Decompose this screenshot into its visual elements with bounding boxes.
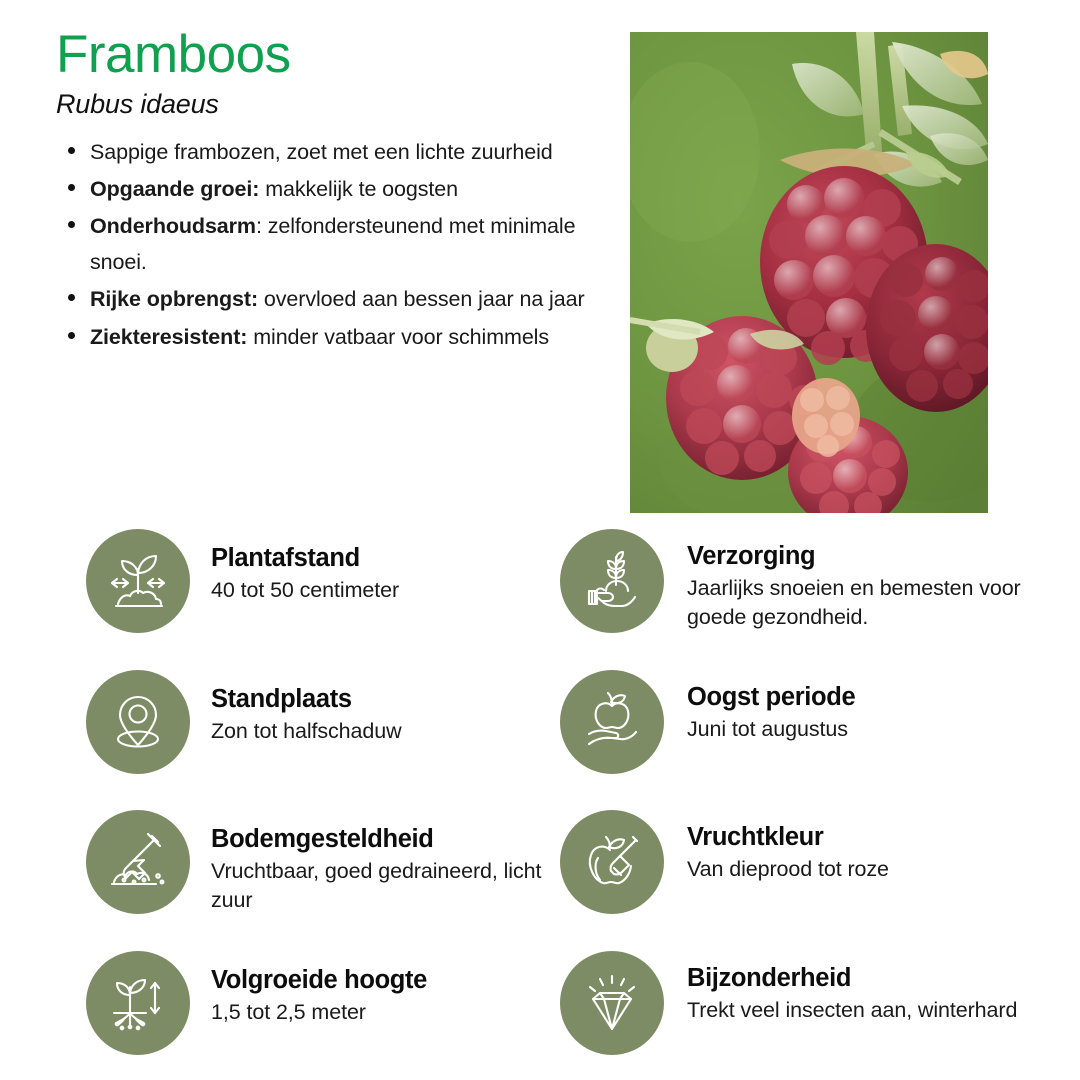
bullet-icon xyxy=(68,221,75,228)
attribute-title: Bijzonderheid xyxy=(687,964,1017,993)
feature-list: Sappige frambozen, zoet met een lichte z… xyxy=(56,134,601,355)
attribute-value: Juni tot augustus xyxy=(687,715,855,743)
diamond-sparkle-icon xyxy=(560,951,664,1055)
attribute-title: Oogst periode xyxy=(687,683,855,712)
plant-height-icon xyxy=(86,951,190,1055)
attribute-title: Volgroeide hoogte xyxy=(211,966,427,995)
attribute-value: 40 tot 50 centimeter xyxy=(211,576,399,604)
attribute-title: Plantafstand xyxy=(211,544,399,573)
feature-label: Rijke opbrengst: xyxy=(90,287,258,311)
attribute-standplaats: Standplaats Zon tot halfschaduw xyxy=(86,670,556,774)
bullet-icon xyxy=(68,332,75,339)
shovel-soil-icon xyxy=(86,810,190,914)
location-pin-icon xyxy=(86,670,190,774)
attribute-bijzonderheid: Bijzonderheid Trekt veel insecten aan, w… xyxy=(560,951,1060,1055)
list-item: Onderhoudsarm: zelfondersteunend met min… xyxy=(56,208,601,280)
apple-brush-icon xyxy=(560,810,664,914)
feature-label: Onderhoudsarm xyxy=(90,214,256,238)
botanical-name: Rubus idaeus xyxy=(56,89,601,120)
bullet-icon xyxy=(68,294,75,301)
attribute-verzorging: Verzorging Jaarlijks snoeien en bemesten… xyxy=(560,529,1060,633)
list-item: Opgaande groei: makkelijk te oogsten xyxy=(56,171,601,207)
attribute-title: Standplaats xyxy=(211,685,402,714)
bullet-icon xyxy=(68,184,75,191)
page-title: Framboos xyxy=(56,28,601,82)
attribute-value: Trekt veel insecten aan, winterhard xyxy=(687,996,1017,1024)
hand-plant-icon xyxy=(560,529,664,633)
plant-spacing-icon xyxy=(86,529,190,633)
feature-label: Ziekteresistent: xyxy=(90,325,247,349)
feature-text: minder vatbaar voor schimmels xyxy=(247,325,549,349)
attribute-grid: Plantafstand 40 tot 50 centimeter Standp… xyxy=(0,513,1080,1080)
attribute-bodemgesteldheid: Bodemgesteldheid Vruchtbaar, goed gedrai… xyxy=(86,810,556,914)
attribute-value: Zon tot halfschaduw xyxy=(211,717,402,745)
raspberry-photo xyxy=(630,32,988,513)
attribute-title: Vruchtkleur xyxy=(687,823,889,852)
attribute-title: Verzorging xyxy=(687,542,1060,571)
feature-label: Opgaande groei: xyxy=(90,177,259,201)
attribute-value: Jaarlijks snoeien en bemesten voor goede… xyxy=(687,574,1060,631)
attribute-value: 1,5 tot 2,5 meter xyxy=(211,998,427,1026)
list-item: Sappige frambozen, zoet met een lichte z… xyxy=(56,134,601,170)
attribute-value: Van dieprood tot roze xyxy=(687,855,889,883)
feature-text: overvloed aan bessen jaar na jaar xyxy=(258,287,584,311)
feature-text: Sappige frambozen, zoet met een lichte z… xyxy=(90,140,553,164)
list-item: Ziekteresistent: minder vatbaar voor sch… xyxy=(56,319,601,355)
feature-text: makkelijk te oogsten xyxy=(259,177,458,201)
attribute-value: Vruchtbaar, goed gedraineerd, licht zuur xyxy=(211,857,556,914)
attribute-vruchtkleur: Vruchtkleur Van dieprood tot roze xyxy=(560,810,1060,914)
bullet-icon xyxy=(68,147,75,154)
attribute-title: Bodemgesteldheid xyxy=(211,825,556,854)
apple-hand-icon xyxy=(560,670,664,774)
attribute-plantafstand: Plantafstand 40 tot 50 centimeter xyxy=(86,529,556,633)
attribute-volgroeide-hoogte: Volgroeide hoogte 1,5 tot 2,5 meter xyxy=(86,951,556,1055)
attribute-oogst-periode: Oogst periode Juni tot augustus xyxy=(560,670,1060,774)
list-item: Rijke opbrengst: overvloed aan bessen ja… xyxy=(56,281,601,317)
plant-info-text-column: Framboos Rubus idaeus Sappige frambozen,… xyxy=(56,28,601,356)
